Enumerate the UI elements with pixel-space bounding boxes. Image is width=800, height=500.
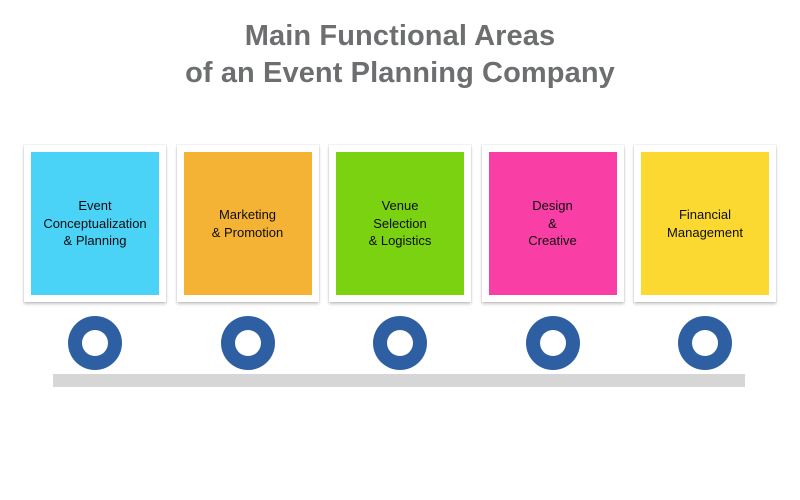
- page-title: Main Functional Areas of an Event Planni…: [0, 18, 800, 92]
- card-fill-2: Marketing & Promotion: [184, 152, 312, 295]
- timeline-base-bar: [53, 374, 745, 387]
- card-label-1: Event Conceptualization & Planning: [43, 197, 146, 250]
- ring-slot-1: [24, 315, 166, 370]
- ring-marker-row: [24, 315, 776, 370]
- card-fill-4: Design & Creative: [489, 152, 617, 295]
- slide-canvas: Main Functional Areas of an Event Planni…: [0, 0, 800, 500]
- ring-slot-4: [482, 315, 624, 370]
- card-financial-management[interactable]: Financial Management: [634, 145, 776, 302]
- ring-marker-icon-1: [68, 316, 122, 370]
- ring-hole-4: [540, 330, 566, 356]
- functional-area-cards: Event Conceptualization & Planning Marke…: [24, 145, 776, 302]
- ring-marker-icon-2: [221, 316, 275, 370]
- ring-hole-5: [692, 330, 718, 356]
- ring-hole-1: [82, 330, 108, 356]
- card-design-creative[interactable]: Design & Creative: [482, 145, 624, 302]
- ring-hole-2: [235, 330, 261, 356]
- ring-marker-icon-3: [373, 316, 427, 370]
- card-venue-selection[interactable]: Venue Selection & Logistics: [329, 145, 471, 302]
- page-title-line-2: of an Event Planning Company: [0, 55, 800, 92]
- ring-slot-3: [329, 315, 471, 370]
- card-fill-1: Event Conceptualization & Planning: [31, 152, 159, 295]
- card-label-4: Design & Creative: [528, 197, 576, 250]
- card-label-5: Financial Management: [667, 206, 743, 241]
- ring-slot-2: [177, 315, 319, 370]
- ring-hole-3: [387, 330, 413, 356]
- card-label-3: Venue Selection & Logistics: [369, 197, 432, 250]
- ring-marker-icon-5: [678, 316, 732, 370]
- card-fill-3: Venue Selection & Logistics: [336, 152, 464, 295]
- card-label-2: Marketing & Promotion: [212, 206, 284, 241]
- ring-slot-5: [634, 315, 776, 370]
- page-title-line-1: Main Functional Areas: [0, 18, 800, 55]
- card-fill-5: Financial Management: [641, 152, 769, 295]
- ring-marker-icon-4: [526, 316, 580, 370]
- card-event-conceptualization[interactable]: Event Conceptualization & Planning: [24, 145, 166, 302]
- card-marketing-promotion[interactable]: Marketing & Promotion: [177, 145, 319, 302]
